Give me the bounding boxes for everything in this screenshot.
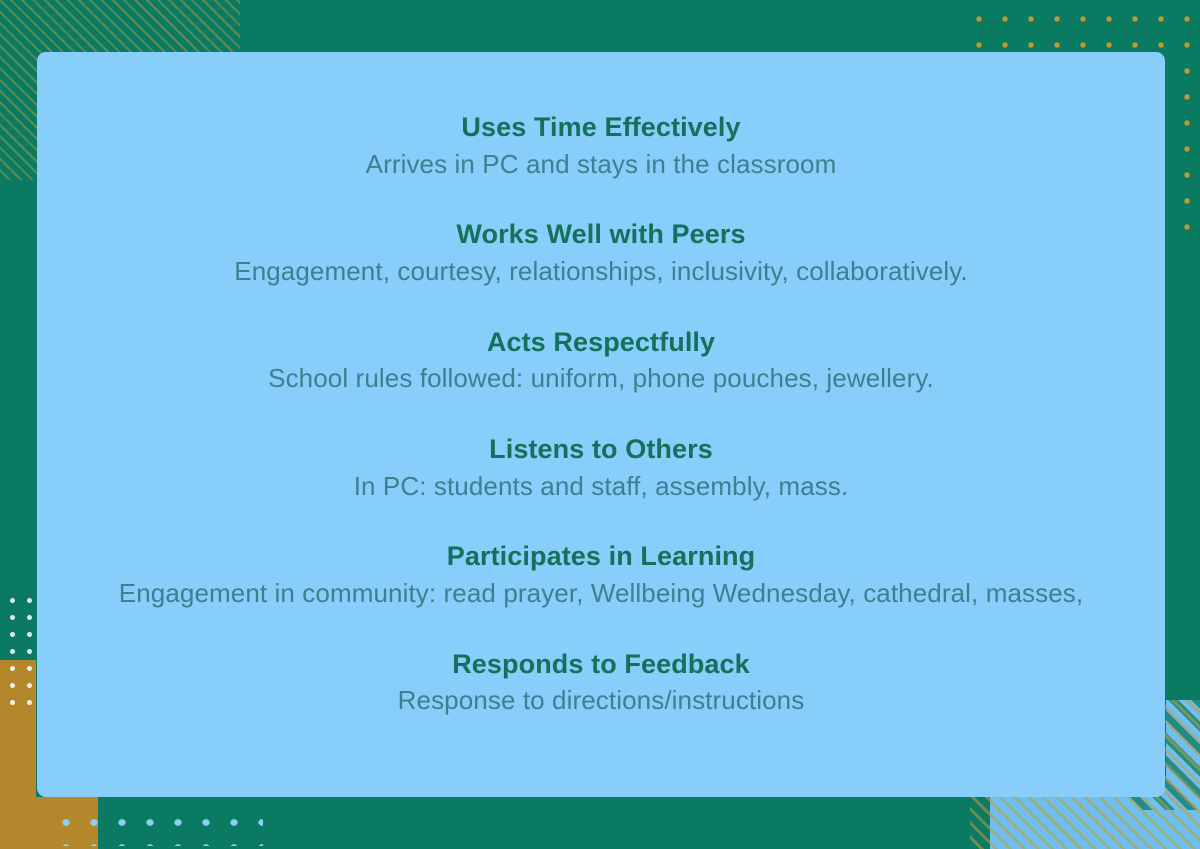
expectation-description: Engagement, courtesy, relationships, inc…: [45, 255, 1157, 289]
expectation-item: Listens to Others In PC: students and st…: [45, 432, 1157, 503]
expectation-description: Response to directions/instructions: [45, 684, 1157, 718]
expectation-title: Uses Time Effectively: [45, 110, 1157, 145]
dot-grid-left-decoration: [0, 588, 36, 716]
expectation-title: Responds to Feedback: [45, 647, 1157, 682]
expectation-item: Uses Time Effectively Arrives in PC and …: [45, 110, 1157, 181]
expectation-title: Listens to Others: [45, 432, 1157, 467]
expectation-description: School rules followed: uniform, phone po…: [45, 362, 1157, 396]
expectation-description: In PC: students and staff, assembly, mas…: [45, 470, 1157, 504]
expectation-description: Engagement in community: read prayer, We…: [45, 577, 1157, 611]
dot-grid-bottom-decoration: [48, 806, 263, 846]
expectation-title: Acts Respectfully: [45, 325, 1157, 360]
expectation-item: Works Well with Peers Engagement, courte…: [45, 217, 1157, 288]
expectations-card: Uses Time Effectively Arrives in PC and …: [37, 52, 1165, 797]
expectation-title: Works Well with Peers: [45, 217, 1157, 252]
expectation-description: Arrives in PC and stays in the classroom: [45, 148, 1157, 182]
expectation-item: Acts Respectfully School rules followed:…: [45, 325, 1157, 396]
expectation-item: Responds to Feedback Response to directi…: [45, 647, 1157, 718]
expectation-item: Participates in Learning Engagement in c…: [45, 539, 1157, 610]
expectation-title: Participates in Learning: [45, 539, 1157, 574]
slide-canvas: Uses Time Effectively Arrives in PC and …: [0, 0, 1200, 849]
